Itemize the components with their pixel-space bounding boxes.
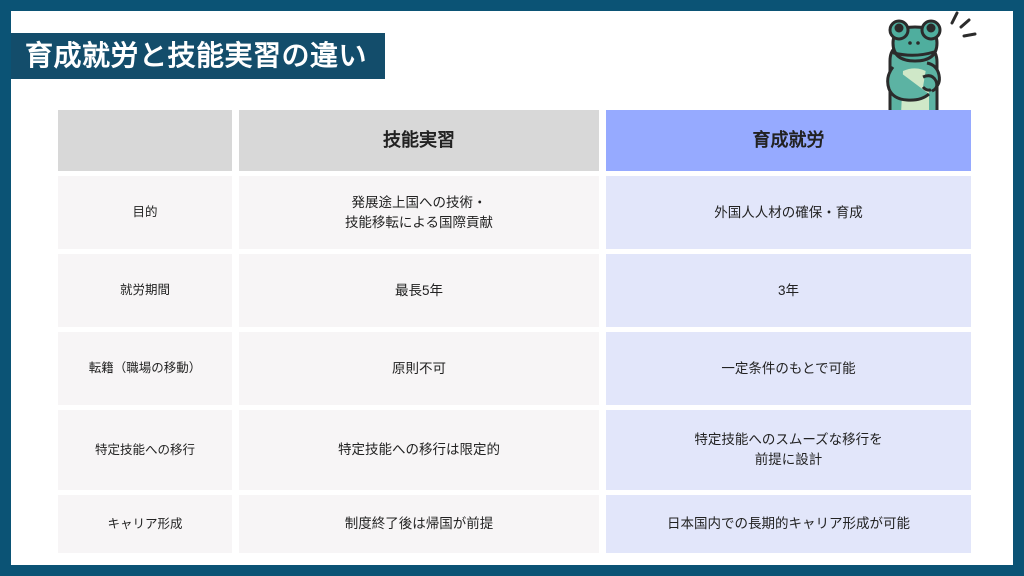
row-value-gino-jisshu: 発展途上国への技術・ 技能移転による国際貢献 — [239, 176, 599, 249]
row-value-ikusei-shuro: 日本国内での長期的キャリア形成が可能 — [606, 495, 971, 553]
row-value-ikusei-shuro: 一定条件のもとで可能 — [606, 332, 971, 405]
row-value-gino-jisshu: 原則不可 — [239, 332, 599, 405]
table-row: 転籍（職場の移動） 原則不可 一定条件のもとで可能 — [58, 332, 964, 405]
page-title-text: 育成就労と技能実習の違い — [25, 42, 367, 70]
slide-canvas: 育成就労と技能実習の違い 技能実習 育成就労 目的 発展途上国への技術・ 技能移… — [11, 11, 1013, 565]
row-value-ikusei-shuro: 外国人人材の確保・育成 — [606, 176, 971, 249]
table-row: 特定技能への移行 特定技能への移行は限定的 特定技能へのスムーズな移行を 前提に… — [58, 410, 964, 490]
comparison-table: 技能実習 育成就労 目的 発展途上国への技術・ 技能移転による国際貢献 外国人人… — [58, 110, 964, 558]
row-label: キャリア形成 — [58, 495, 232, 553]
row-value-ikusei-shuro: 3年 — [606, 254, 971, 327]
frog-thinking-icon — [857, 11, 977, 115]
table-row: キャリア形成 制度終了後は帰国が前提 日本国内での長期的キャリア形成が可能 — [58, 495, 964, 553]
table-row: 就労期間 最長5年 3年 — [58, 254, 964, 327]
page-title: 育成就労と技能実習の違い — [11, 33, 385, 79]
row-value-gino-jisshu: 制度終了後は帰国が前提 — [239, 495, 599, 553]
table-header-row: 技能実習 育成就労 — [58, 110, 964, 171]
row-value-gino-jisshu: 最長5年 — [239, 254, 599, 327]
row-label: 目的 — [58, 176, 232, 249]
header-cell-gino-jisshu: 技能実習 — [239, 110, 599, 171]
row-value-ikusei-shuro: 特定技能へのスムーズな移行を 前提に設計 — [606, 410, 971, 490]
row-label: 特定技能への移行 — [58, 410, 232, 490]
row-value-gino-jisshu: 特定技能への移行は限定的 — [239, 410, 599, 490]
table-row: 目的 発展途上国への技術・ 技能移転による国際貢献 外国人人材の確保・育成 — [58, 176, 964, 249]
slide-root: 育成就労と技能実習の違い 技能実習 育成就労 目的 発展途上国への技術・ 技能移… — [0, 0, 1024, 576]
header-cell-ikusei-shuro: 育成就労 — [606, 110, 971, 171]
row-label: 就労期間 — [58, 254, 232, 327]
row-label: 転籍（職場の移動） — [58, 332, 232, 405]
header-cell-label — [58, 110, 232, 171]
